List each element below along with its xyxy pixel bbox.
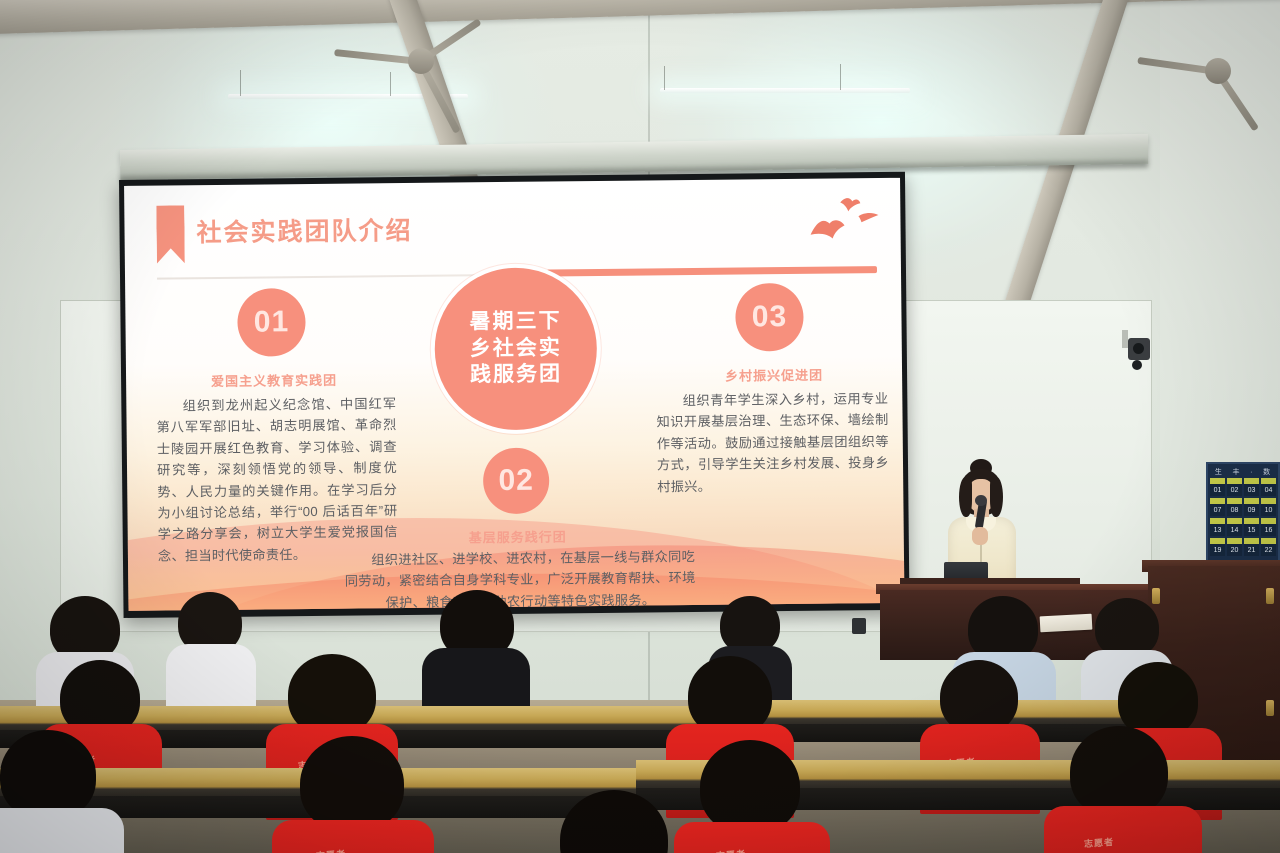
head	[700, 740, 800, 834]
calendar-cell: 02	[1227, 478, 1242, 496]
calendar-cell: 19	[1210, 538, 1225, 556]
column-subtitle-03: 乡村振兴促进团	[686, 364, 862, 385]
volunteer-vest: 志愿者	[272, 820, 434, 853]
calendar-cell: 08	[1227, 498, 1242, 516]
podium-trim	[1152, 588, 1160, 604]
calendar-cell: 15	[1244, 518, 1259, 536]
step-number-01: 01	[237, 288, 306, 357]
bookmark-ribbon-icon	[156, 205, 185, 263]
calendar-cell: 10	[1261, 498, 1276, 516]
column-subtitle-01: 爱国主义教育实践团	[186, 369, 362, 390]
presenter-hair-side	[990, 477, 1003, 517]
camera-lens-icon	[1133, 343, 1144, 354]
calendar-cell: 04	[1261, 478, 1276, 496]
head	[300, 736, 404, 832]
lamp-wire	[664, 66, 665, 90]
lamp-wire	[390, 72, 391, 96]
flying-birds-icon	[796, 190, 897, 253]
center-badge-line-2: 乡社会实	[470, 336, 562, 360]
calendar-header-cell: 生	[1215, 467, 1223, 477]
vest-text: 志愿者	[1084, 835, 1115, 850]
vest-text: 志愿者	[716, 847, 747, 853]
head	[0, 730, 96, 820]
calendar-cell: 09	[1244, 498, 1259, 516]
column-body-03: 组织青年学生深入乡村，运用专业知识开展基层治理、生态环保、墙绘制作等活动。鼓励通…	[656, 388, 889, 497]
calendar-header-cell: ·	[1250, 469, 1253, 476]
center-badge-line-3: 践服务团	[470, 363, 562, 387]
column-body-02: 组织进社区、进学校、进农村，在基层一线与群众同吃同劳动，紧密结合自身学科专业，广…	[340, 546, 701, 611]
volunteer-vest: 志愿者	[1044, 806, 1202, 853]
volunteer-vest: 志愿者	[674, 822, 830, 853]
lecture-hall-photo: 社会实践团队介绍 01 爱国主义教育实践团 组织到龙州起义纪念馆、中国红军第八军…	[0, 0, 1280, 853]
calendar-cell: 13	[1210, 518, 1225, 536]
calendar-grid: 01 02 03 04 07 08 09 10 13 14 15 16 19 2…	[1210, 478, 1276, 556]
torso	[0, 808, 124, 853]
podium-trim	[1266, 700, 1274, 716]
podium-trim	[1266, 588, 1274, 604]
calendar-header-cell: 丰	[1232, 467, 1240, 477]
cup	[852, 618, 866, 634]
head	[1095, 598, 1159, 658]
step-number-02: 02	[483, 448, 550, 515]
fan-hub	[1205, 58, 1231, 84]
lamp-wire	[240, 70, 241, 96]
calendar-cell: 16	[1261, 518, 1276, 536]
lamp-wire	[840, 64, 841, 90]
center-badge-line-1: 暑期三下	[469, 309, 561, 333]
calendar-cell: 22	[1261, 538, 1276, 556]
step-number-03: 03	[735, 283, 804, 352]
presenter-hair-side	[959, 477, 972, 517]
calendar-cell: 07	[1210, 498, 1225, 516]
center-badge: 暑期三下 乡社会实 践服务团	[430, 263, 602, 435]
fluorescent-lamp	[660, 88, 910, 93]
presentation-slide: 社会实践团队介绍 01 爱国主义教育实践团 组织到龙州起义纪念馆、中国红军第八军…	[124, 178, 904, 611]
column-body-01: 组织到龙州起义纪念馆、中国红军第八军军部旧址、胡志明展馆、革命烈士陵园开展红色教…	[156, 393, 398, 567]
center-badge-text: 暑期三下 乡社会实 践服务团	[469, 308, 562, 390]
calendar-cell: 03	[1244, 478, 1259, 496]
calendar-cell: 21	[1244, 538, 1259, 556]
calendar-header-cell: 数	[1263, 467, 1271, 477]
calendar-header: 生 丰 · 数	[1210, 466, 1276, 478]
presenter-hand	[972, 527, 988, 545]
slide-title: 社会实践团队介绍	[196, 211, 412, 249]
calendar-cell: 20	[1227, 538, 1242, 556]
head	[1070, 726, 1168, 818]
projection-screen[interactable]: 社会实践团队介绍 01 爱国主义教育实践团 组织到龙州起义纪念馆、中国红军第八军…	[119, 172, 910, 618]
calendar-cell: 14	[1227, 518, 1242, 536]
head	[940, 660, 1018, 734]
vest-text: 志愿者	[316, 847, 347, 853]
fan-hub	[408, 48, 434, 74]
open-book	[1040, 614, 1093, 633]
camera-knob-icon	[1132, 360, 1142, 370]
calendar-cell: 01	[1210, 478, 1225, 496]
torso	[166, 644, 256, 712]
column-subtitle-02: 基层服务践行团	[428, 526, 608, 547]
microphone-head-icon	[975, 495, 987, 506]
header-rule-right	[547, 266, 877, 276]
